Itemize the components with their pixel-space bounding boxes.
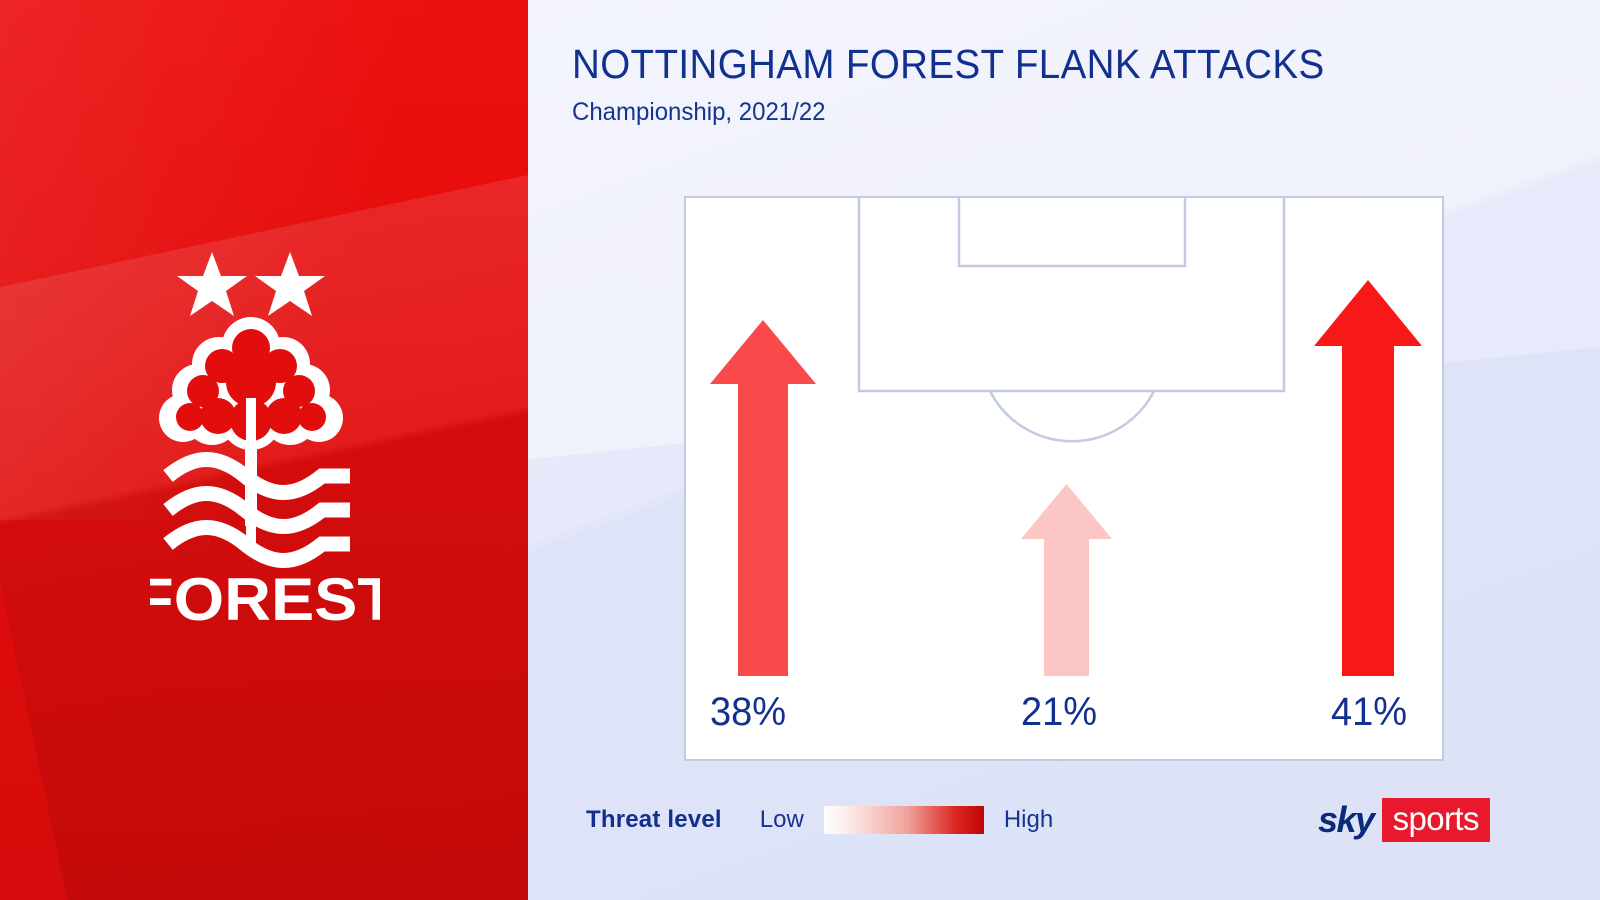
sky-sports-logo: sky sports — [1318, 798, 1490, 842]
value-label-left-flank: 38% — [710, 690, 786, 735]
sports-wordmark: sports — [1382, 798, 1490, 842]
pitch-diagram: 38% 21% 41% — [684, 196, 1444, 761]
crest-wordmark: FOREST — [150, 566, 380, 628]
club-crest-panel: FOREST — [0, 0, 528, 900]
arrow-left-flank — [708, 316, 818, 678]
legend-low-label: Low — [760, 806, 804, 834]
crest-waves-icon — [168, 460, 350, 561]
penalty-box — [859, 198, 1284, 391]
legend-title: Threat level — [586, 806, 722, 834]
infographic-stage: FOREST NOTTINGHAM FOREST FLANK ATTACKS C… — [0, 0, 1600, 900]
crest-trunk-lower — [246, 458, 256, 554]
page-subtitle: Championship, 2021/22 — [572, 98, 1532, 127]
value-label-centre: 21% — [1021, 690, 1097, 735]
legend-high-label: High — [1004, 806, 1053, 834]
crest-icon: FOREST — [150, 248, 380, 628]
six-yard-box — [959, 198, 1185, 266]
arrow-right-flank — [1312, 276, 1424, 678]
legend-gradient-bar — [824, 806, 984, 834]
page-title: NOTTINGHAM FOREST FLANK ATTACKS — [572, 42, 1512, 88]
crest-stars-icon — [177, 252, 325, 316]
value-label-right-flank: 41% — [1331, 690, 1407, 735]
content-panel: NOTTINGHAM FOREST FLANK ATTACKS Champion… — [528, 0, 1600, 900]
penalty-arc — [990, 391, 1154, 441]
nottingham-forest-crest: FOREST — [150, 248, 380, 628]
header: NOTTINGHAM FOREST FLANK ATTACKS Champion… — [572, 42, 1572, 127]
arrow-centre — [1019, 480, 1114, 678]
sky-wordmark: sky — [1318, 802, 1382, 838]
threat-level-legend: Threat level Low High — [586, 806, 1053, 834]
